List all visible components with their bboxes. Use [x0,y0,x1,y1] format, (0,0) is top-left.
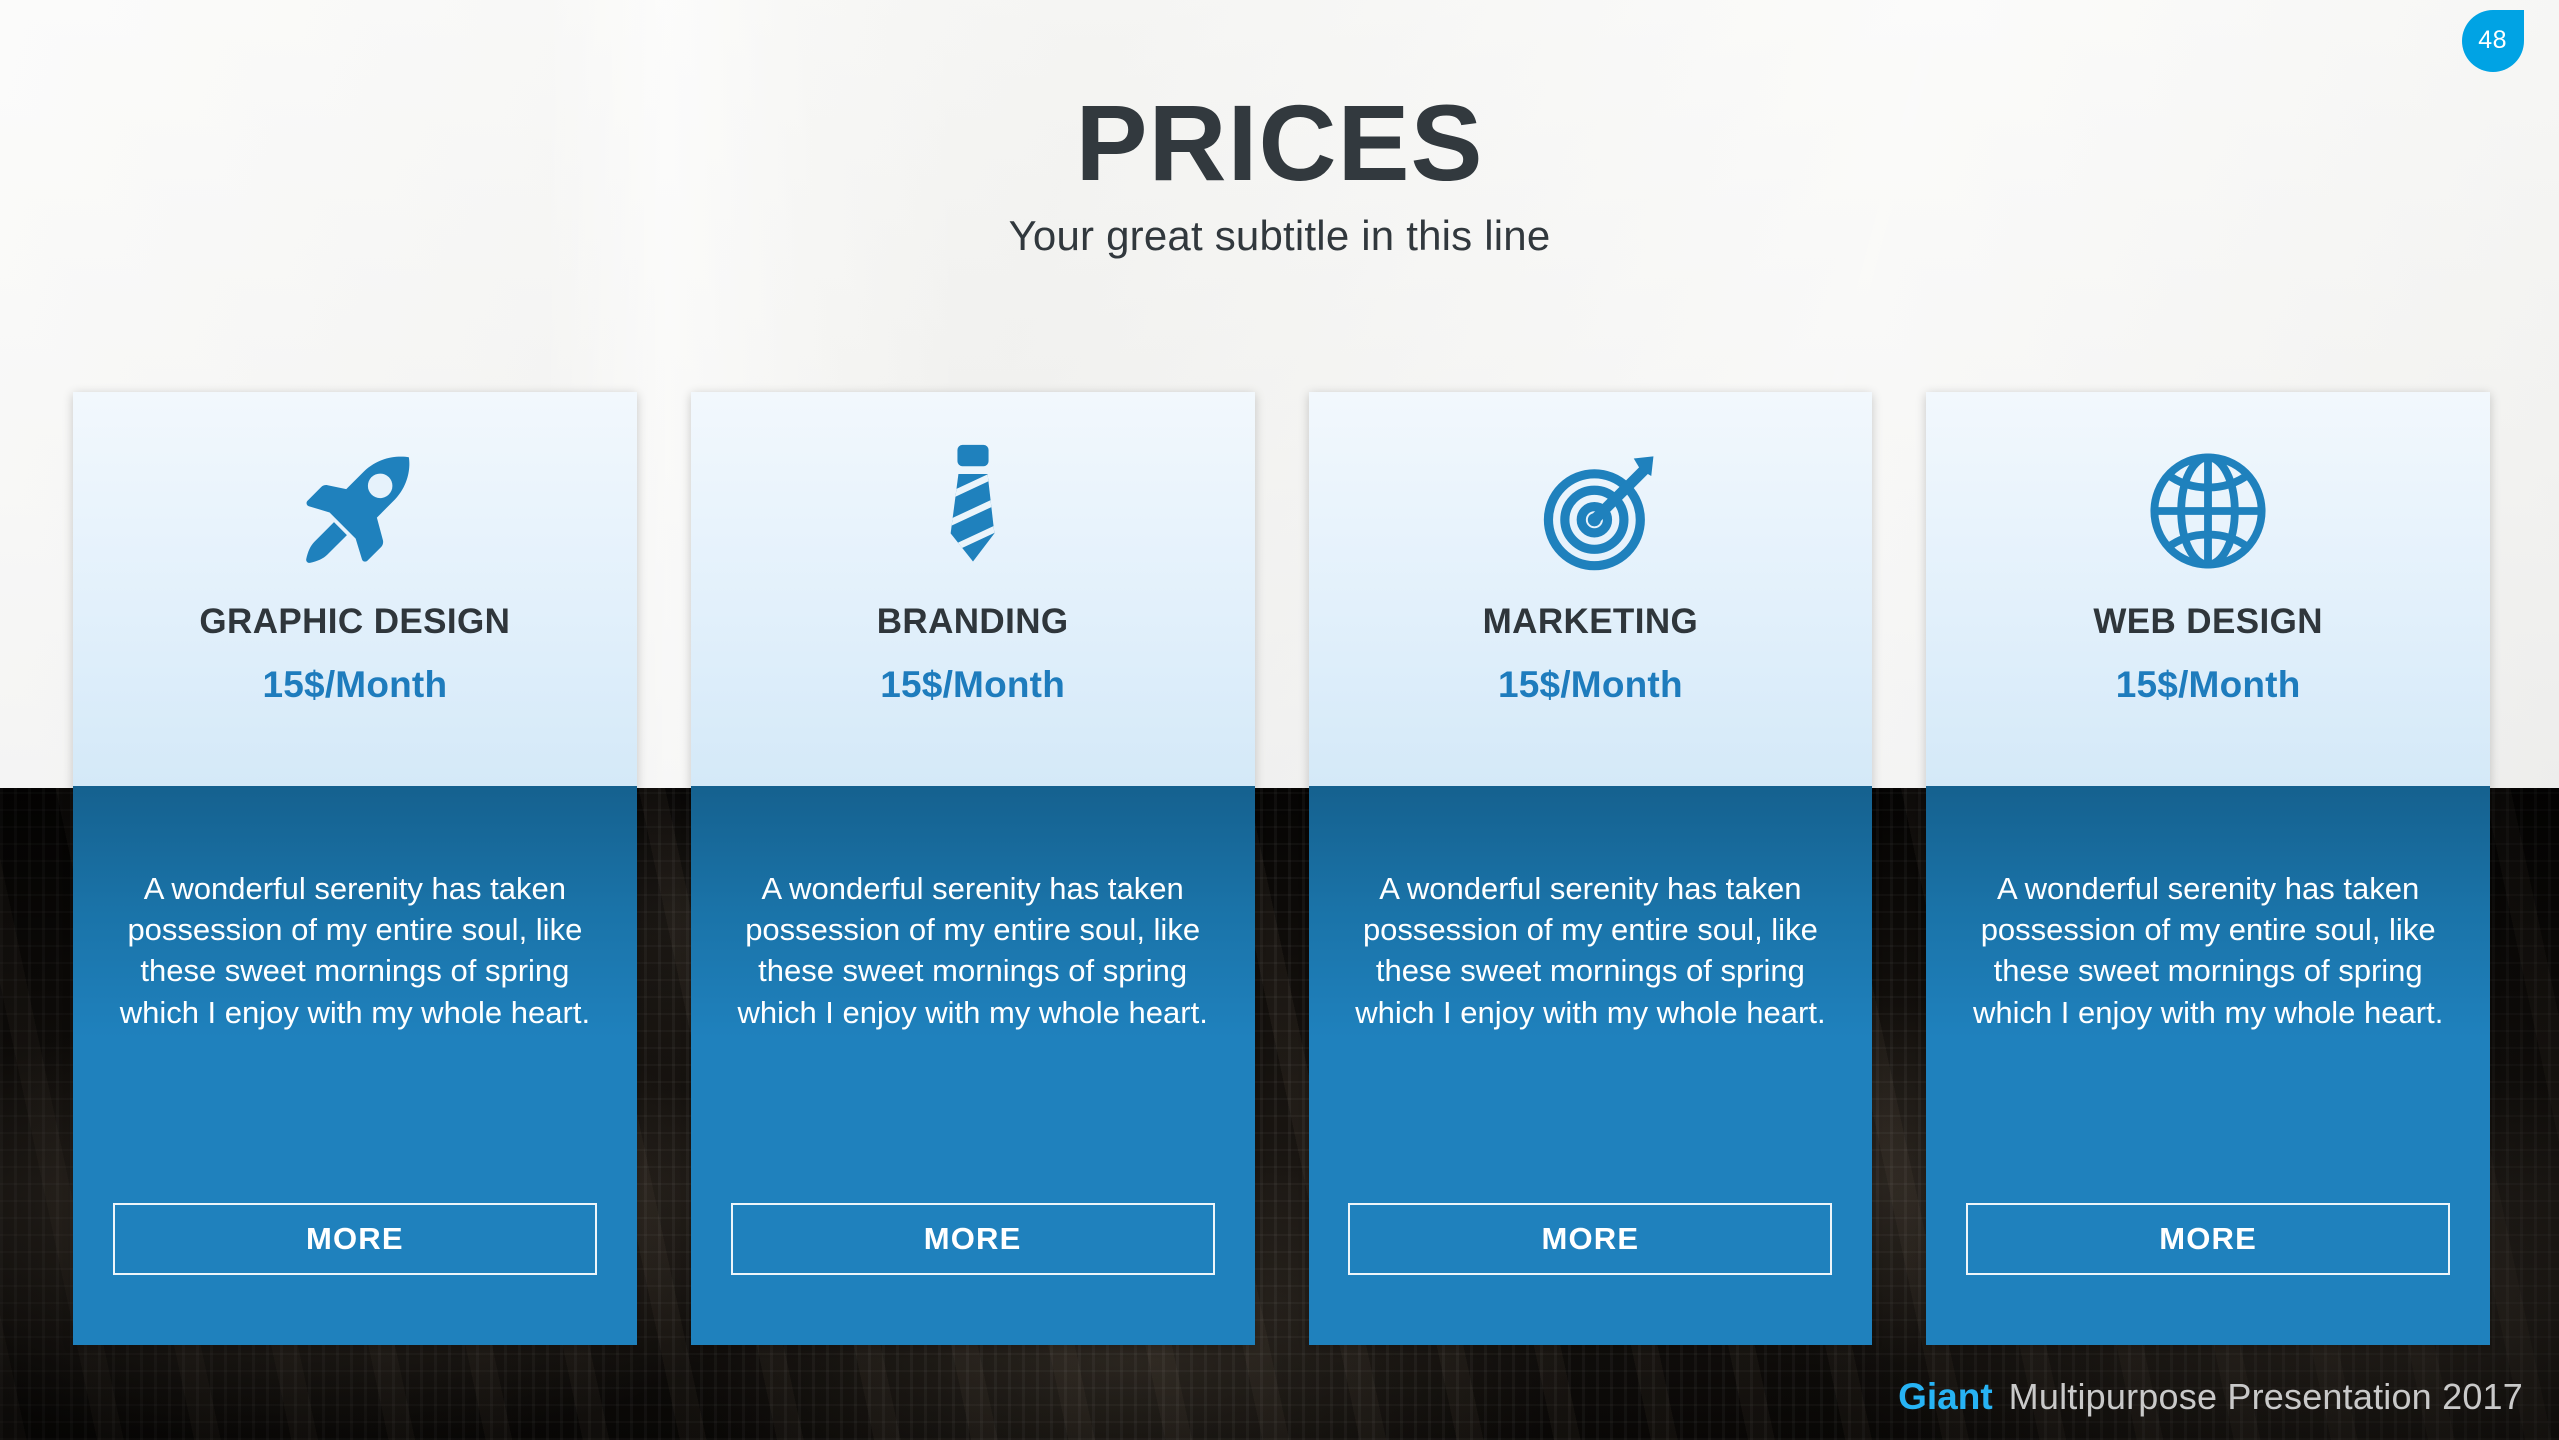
more-button[interactable]: MORE [1348,1203,1832,1275]
card-description: A wonderful serenity has taken possessio… [727,868,1219,1033]
header: PRICES Your great subtitle in this line [0,88,2559,260]
card-description: A wonderful serenity has taken possessio… [1962,868,2454,1033]
pricing-card-list: GRAPHIC DESIGN 15$/Month A wonderful ser… [73,392,2490,1345]
rocket-icon [285,436,425,586]
slide-number-badge: 48 [2462,10,2524,72]
card-title: GRAPHIC DESIGN [199,602,510,642]
card-header: GRAPHIC DESIGN 15$/Month [73,392,637,786]
card-title: WEB DESIGN [2093,602,2323,642]
card-price: 15$/Month [1498,664,1683,706]
card-title: MARKETING [1483,602,1699,642]
necktie-icon [908,436,1038,586]
card-price: 15$/Month [262,664,447,706]
footer-text-label: Multipurpose Presentation 2017 [2009,1376,2523,1418]
card-header: BRANDING 15$/Month [691,392,1255,786]
more-button[interactable]: MORE [731,1203,1215,1275]
page-title: PRICES [0,88,2559,198]
more-button[interactable]: MORE [113,1203,597,1275]
slide: 48 PRICES Your great subtitle in this li… [0,0,2559,1440]
card-price: 15$/Month [2116,664,2301,706]
more-button[interactable]: MORE [1966,1203,2450,1275]
slide-number-label: 48 [2479,29,2508,54]
card-header: MARKETING 15$/Month [1309,392,1873,786]
card-body: A wonderful serenity has taken possessio… [73,786,637,1345]
pricing-card[interactable]: GRAPHIC DESIGN 15$/Month A wonderful ser… [73,392,637,1345]
card-header: WEB DESIGN 15$/Month [1926,392,2490,786]
footer: Giant Multipurpose Presentation 2017 [1898,1376,2523,1418]
footer-brand-label: Giant [1898,1376,1993,1418]
pricing-card[interactable]: MARKETING 15$/Month A wonderful serenity… [1309,392,1873,1345]
card-title: BRANDING [877,602,1069,642]
card-body: A wonderful serenity has taken possessio… [691,786,1255,1345]
card-description: A wonderful serenity has taken possessio… [1345,868,1837,1033]
card-price: 15$/Month [880,664,1065,706]
target-arrow-icon [1520,436,1660,586]
page-subtitle: Your great subtitle in this line [0,212,2559,260]
card-body: A wonderful serenity has taken possessio… [1926,786,2490,1345]
card-body: A wonderful serenity has taken possessio… [1309,786,1873,1345]
card-description: A wonderful serenity has taken possessio… [109,868,601,1033]
pricing-card[interactable]: BRANDING 15$/Month A wonderful serenity … [691,392,1255,1345]
pricing-card[interactable]: WEB DESIGN 15$/Month A wonderful serenit… [1926,392,2490,1345]
globe-icon [2142,436,2274,586]
